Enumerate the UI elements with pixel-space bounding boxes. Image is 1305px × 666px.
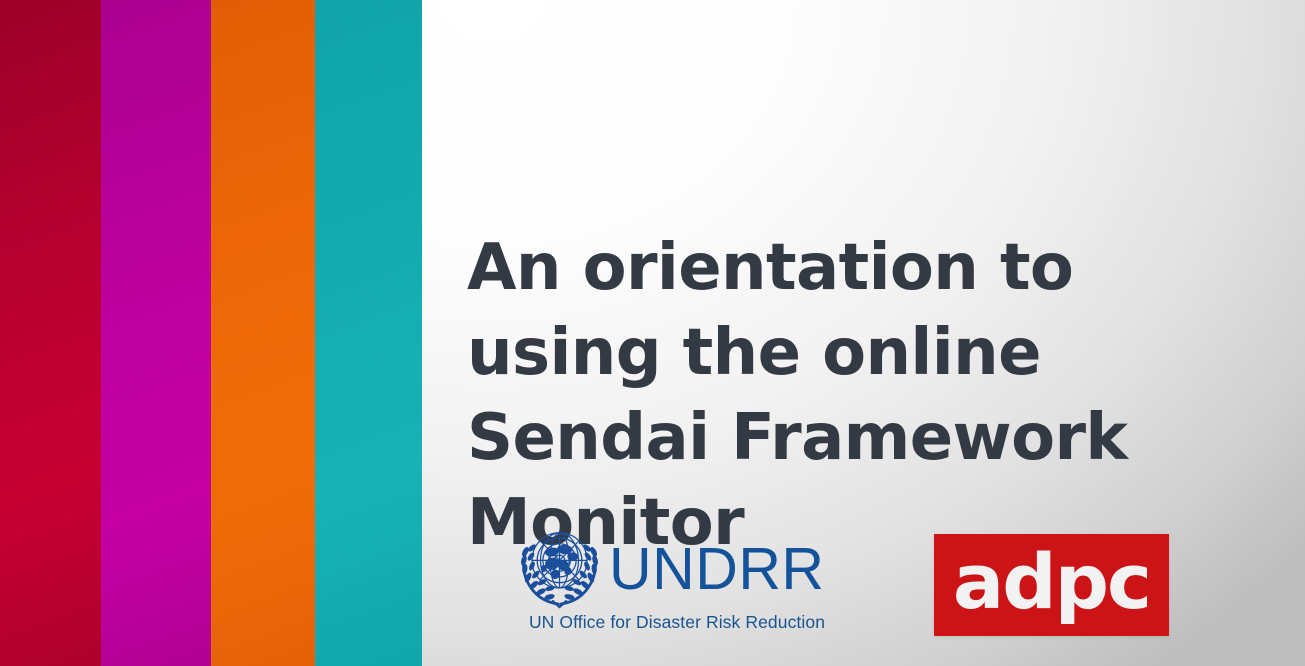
undrr-logo: UNDRR UN Office for Disaster Risk Reduct…	[512, 525, 842, 633]
accent-bar-orange	[211, 0, 315, 666]
undrr-tagline: UN Office for Disaster Risk Reduction	[512, 612, 842, 633]
accent-bar-group	[0, 0, 422, 666]
accent-bar-magenta	[101, 0, 211, 666]
accent-bar-teal	[315, 0, 422, 666]
accent-bar-crimson	[0, 0, 101, 666]
un-emblem-icon	[512, 525, 607, 609]
undrr-logo-top: UNDRR	[512, 525, 842, 609]
slide-title: An orientation to using the online Senda…	[467, 226, 1287, 566]
title-slide: An orientation to using the online Senda…	[0, 0, 1305, 666]
undrr-wordmark: UNDRR	[609, 540, 825, 599]
content-panel: An orientation to using the online Senda…	[422, 0, 1305, 666]
logo-row: UNDRR UN Office for Disaster Risk Reduct…	[422, 520, 1305, 660]
adpc-logo: adpc	[934, 534, 1169, 636]
adpc-wordmark: adpc	[953, 544, 1150, 620]
